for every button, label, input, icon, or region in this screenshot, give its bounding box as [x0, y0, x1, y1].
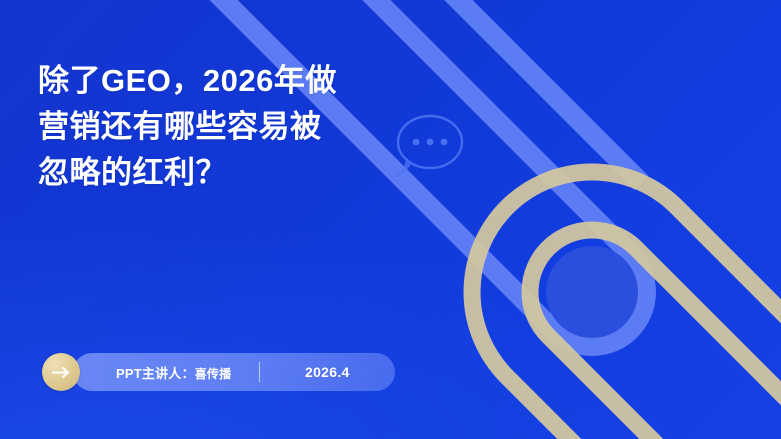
footer-host: PPT主讲人： 喜传播 [116, 363, 231, 382]
slide-title: 除了GEO，2026年做 营销还有哪些容易被 忽略的红利？ [38, 58, 438, 196]
footer-info-pill: PPT主讲人： 喜传播 2026.4 [73, 353, 395, 391]
title-line-3: 忽略的红利？ [38, 150, 438, 196]
arrow-right-icon[interactable] [42, 353, 80, 391]
gold-hairpin-loop [422, 122, 781, 439]
footer-host-label: PPT主讲人： [116, 363, 195, 382]
title-line-2: 营销还有哪些容易被 [38, 104, 438, 150]
footer-bar: PPT主讲人： 喜传播 2026.4 [42, 351, 395, 393]
footer-host-name: 喜传播 [195, 365, 232, 382]
title-line-1: 除了GEO，2026年做 [38, 58, 438, 104]
center-circle [546, 246, 638, 338]
presentation-cover-slide: 除了GEO，2026年做 营销还有哪些容易被 忽略的红利？ PPT主讲人： 喜传… [0, 0, 781, 439]
footer-date: 2026.4 [305, 364, 350, 380]
footer-divider [259, 362, 260, 382]
